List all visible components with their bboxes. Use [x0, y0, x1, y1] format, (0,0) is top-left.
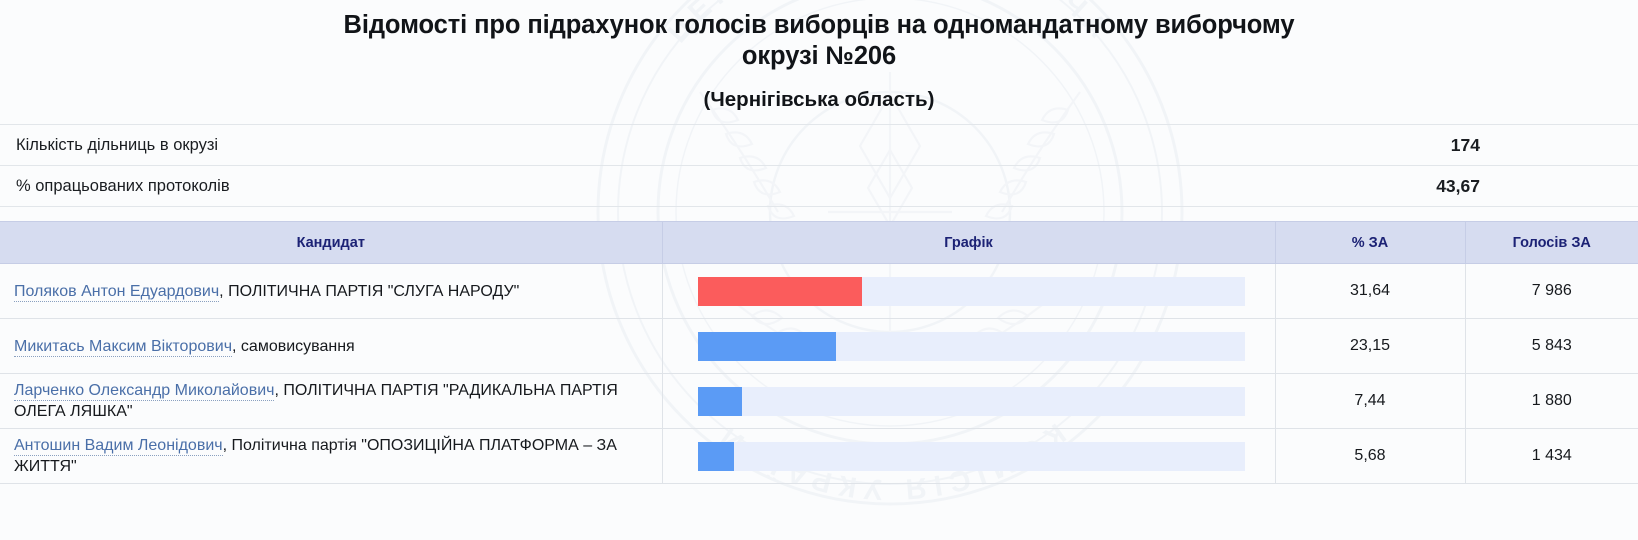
page-subtitle-region: (Чернігівська область): [0, 88, 1638, 112]
votes-cell: 1 434: [1465, 429, 1638, 484]
bar-wrapper: [698, 264, 1245, 318]
candidate-cell: Микитась Максим Вікторович, самовисуванн…: [0, 319, 662, 374]
bar-fill: [698, 387, 742, 416]
column-header-votes[interactable]: Голосів ЗА: [1465, 222, 1638, 264]
candidate-party: , ПОЛІТИЧНА ПАРТІЯ "СЛУГА НАРОДУ": [219, 283, 519, 300]
percent-cell: 23,15: [1275, 319, 1465, 374]
percent-cell: 31,64: [1275, 264, 1465, 319]
candidate-link[interactable]: Ларченко Олександр Миколайович: [14, 382, 274, 401]
bar-track: [698, 332, 1245, 361]
bar-fill: [698, 442, 734, 471]
page-title-line1: Відомості про підрахунок голосів виборці…: [344, 11, 1148, 39]
results-table: Кандидат Графік % ЗА Голосів ЗА Поляков …: [0, 221, 1638, 484]
page-title: Відомості про підрахунок голосів виборці…: [314, 10, 1324, 72]
column-header-chart[interactable]: Графік: [662, 222, 1275, 264]
chart-cell: [662, 319, 1275, 374]
election-results-page: ЦЕНТРАЛЬНА ВИБОРЧА КОМІСІЯ УКРАЇНИ: [0, 0, 1638, 540]
summary-label-protocols: % опрацьованих протоколів: [0, 166, 1118, 207]
percent-cell: 7,44: [1275, 374, 1465, 429]
chart-cell: [662, 264, 1275, 319]
column-header-percent[interactable]: % ЗА: [1275, 222, 1465, 264]
candidate-cell: Ларченко Олександр Миколайович, ПОЛІТИЧН…: [0, 374, 662, 429]
candidate-link[interactable]: Антошин Вадим Леонідович: [14, 437, 223, 456]
candidate-party: , самовисування: [232, 338, 355, 355]
candidate-cell: Поляков Антон Едуардович, ПОЛІТИЧНА ПАРТ…: [0, 264, 662, 319]
page-title-block: Відомості про підрахунок голосів виборці…: [0, 0, 1638, 124]
bar-wrapper: [698, 319, 1245, 373]
bar-wrapper: [698, 429, 1245, 483]
bar-fill: [698, 277, 862, 306]
bar-track: [698, 387, 1245, 416]
bar-track: [698, 277, 1245, 306]
chart-cell: [662, 374, 1275, 429]
table-row: Ларченко Олександр Миколайович, ПОЛІТИЧН…: [0, 374, 1638, 429]
table-row: Микитась Максим Вікторович, самовисуванн…: [0, 319, 1638, 374]
candidate-link[interactable]: Поляков Антон Едуардович: [14, 283, 219, 302]
column-header-candidate[interactable]: Кандидат: [0, 222, 662, 264]
summary-table: Кількість дільниць в окрузі 174 % опраць…: [0, 124, 1638, 207]
chart-cell: [662, 429, 1275, 484]
candidate-cell: Антошин Вадим Леонідович, Політична парт…: [0, 429, 662, 484]
section-spacer: [0, 207, 1638, 221]
bar-fill: [698, 332, 836, 361]
bar-track: [698, 442, 1245, 471]
votes-cell: 1 880: [1465, 374, 1638, 429]
percent-cell: 5,68: [1275, 429, 1465, 484]
table-row: Антошин Вадим Леонідович, Політична парт…: [0, 429, 1638, 484]
table-row: Поляков Антон Едуардович, ПОЛІТИЧНА ПАРТ…: [0, 264, 1638, 319]
results-table-body: Поляков Антон Едуардович, ПОЛІТИЧНА ПАРТ…: [0, 264, 1638, 484]
summary-label-districts: Кількість дільниць в окрузі: [0, 125, 1118, 166]
summary-row-districts: Кількість дільниць в окрузі 174: [0, 125, 1638, 166]
bar-wrapper: [698, 374, 1245, 428]
results-header-row: Кандидат Графік % ЗА Голосів ЗА: [0, 222, 1638, 264]
candidate-link[interactable]: Микитась Максим Вікторович: [14, 338, 232, 357]
votes-cell: 5 843: [1465, 319, 1638, 374]
summary-row-protocols: % опрацьованих протоколів 43,67: [0, 166, 1638, 207]
summary-value-protocols: 43,67: [1118, 166, 1638, 207]
votes-cell: 7 986: [1465, 264, 1638, 319]
summary-value-districts: 174: [1118, 125, 1638, 166]
